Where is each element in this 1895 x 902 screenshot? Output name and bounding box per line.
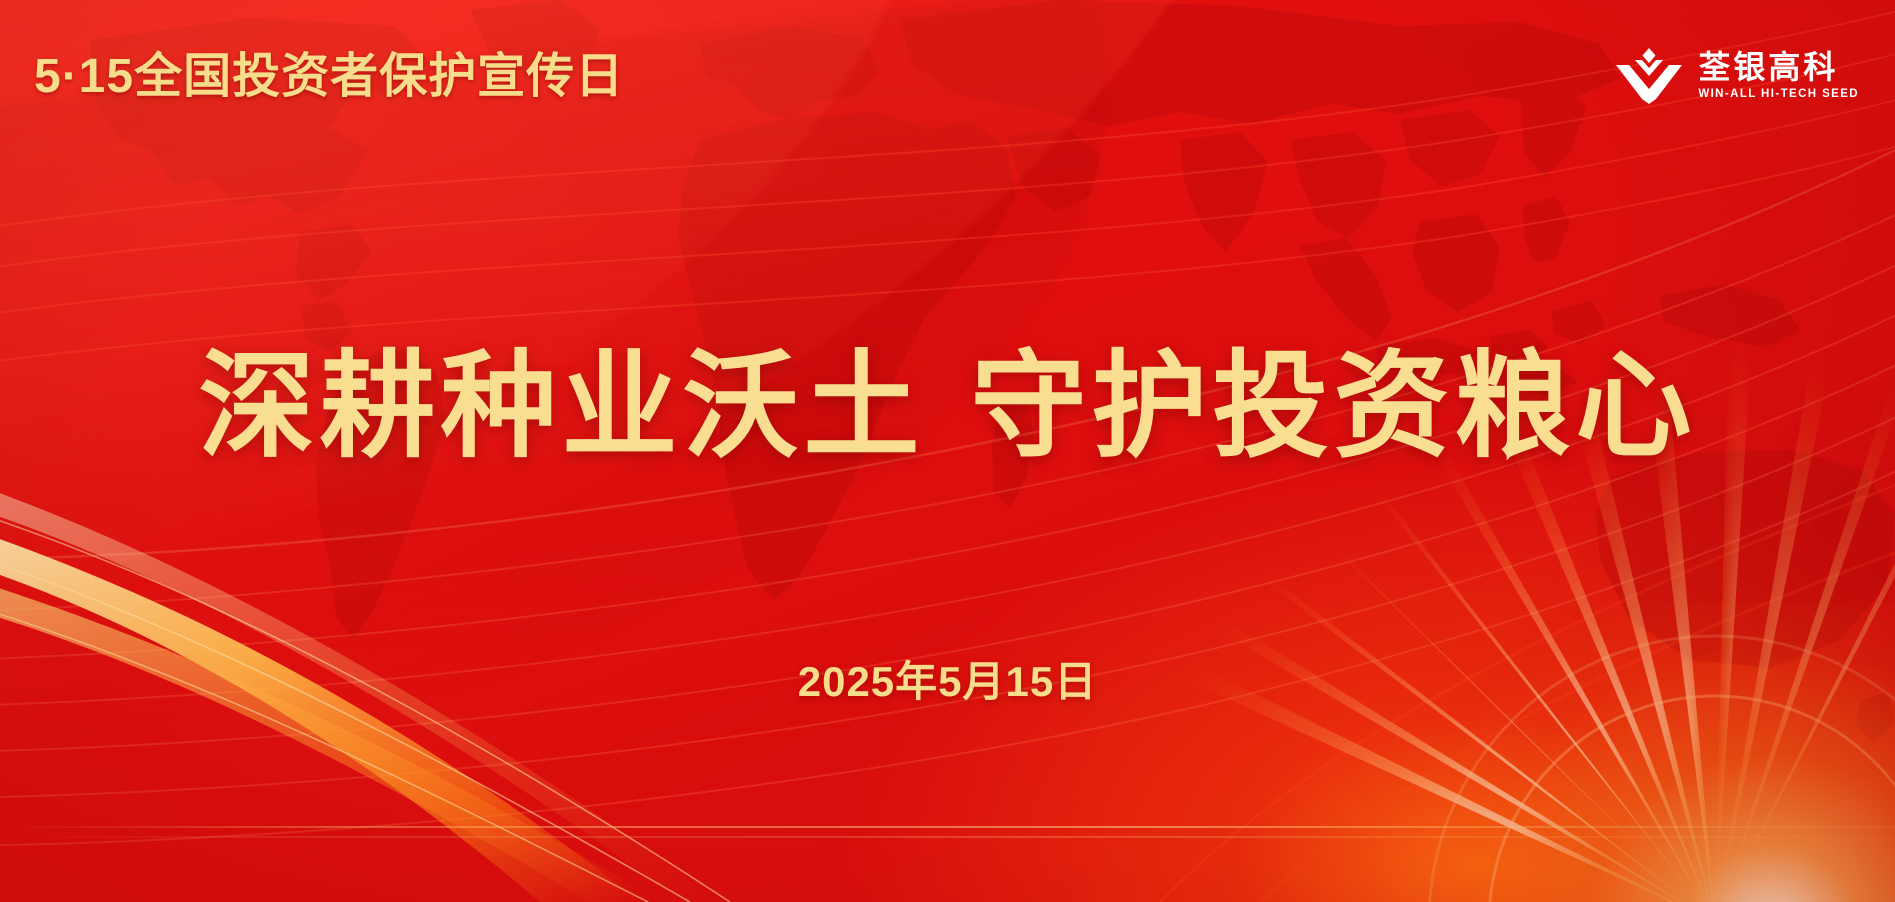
logo-wordmark: 荃银高科 WIN-ALL HI-TECH SEED <box>1698 51 1859 100</box>
company-logo: 荃银高科 WIN-ALL HI-TECH SEED <box>1616 48 1859 104</box>
headline-right-phrase: 守护投资粮心 <box>971 341 1697 471</box>
company-name-en: WIN-ALL HI-TECH SEED <box>1698 89 1859 101</box>
win-all-chevron-logo-icon <box>1616 48 1682 104</box>
event-date: 2025年5月15日 <box>0 661 1895 703</box>
banner-content: 5·15全国投资者保护宣传日 深耕种业沃土守护投资粮心 2025年5月15日 <box>0 0 1895 902</box>
investor-protection-day-banner: 5·15全国投资者保护宣传日 深耕种业沃土守护投资粮心 2025年5月15日 <box>0 0 1895 902</box>
main-headline: 深耕种业沃土守护投资粮心 <box>0 342 1895 472</box>
headline-left-phrase: 深耕种业沃土 <box>199 341 925 471</box>
event-kicker-title: 5·15全国投资者保护宣传日 <box>34 53 624 101</box>
company-name-cn: 荃银高科 <box>1698 51 1859 85</box>
